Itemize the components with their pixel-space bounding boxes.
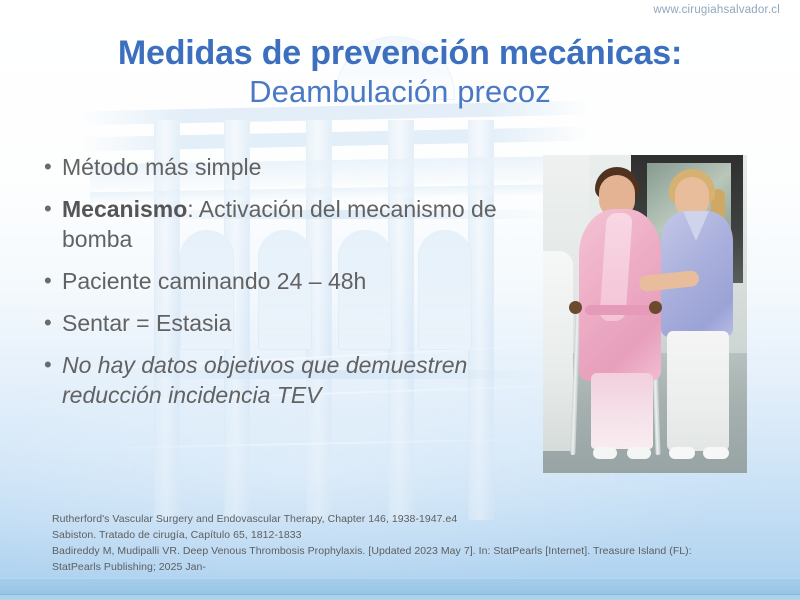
photo-patient-shoe bbox=[593, 447, 617, 459]
list-item: • No hay datos objetivos que demuestren … bbox=[44, 350, 514, 410]
page-title-line1: Medidas de prevención mecánicas: bbox=[0, 36, 800, 71]
list-item: • Sentar = Estasia bbox=[44, 308, 514, 338]
list-item-label: No hay datos objetivos que demuestren re… bbox=[62, 350, 514, 410]
photo-patient-belt bbox=[585, 305, 655, 315]
watermark-cornice-second bbox=[80, 127, 590, 152]
bullet-dot-icon: • bbox=[44, 194, 62, 224]
bullet-dot-icon: • bbox=[44, 350, 62, 380]
citation-line: Sabiston. Tratado de cirugía, Capítulo 6… bbox=[52, 527, 752, 543]
bullet-list: • Método más simple • Mecanismo: Activac… bbox=[44, 152, 514, 422]
photo-bystander bbox=[543, 251, 573, 451]
footer-bar-line bbox=[0, 594, 800, 595]
list-item-bold-prefix: Mecanismo bbox=[62, 196, 187, 222]
photo-nurse-pants bbox=[667, 331, 729, 451]
photo-crutch-grip bbox=[569, 301, 582, 314]
page-title: Medidas de prevención mecánicas: Deambul… bbox=[0, 36, 800, 109]
page-title-line2: Deambulación precoz bbox=[0, 76, 800, 108]
citation-line: Rutherford's Vascular Surgery and Endova… bbox=[52, 511, 752, 527]
footer-bar bbox=[0, 578, 800, 600]
list-item: • Mecanismo: Activación del mecanismo de… bbox=[44, 194, 514, 254]
bullet-dot-icon: • bbox=[44, 308, 62, 338]
citation-block: Rutherford's Vascular Surgery and Endova… bbox=[52, 511, 752, 575]
photo-patient-shoe bbox=[627, 447, 651, 459]
patient-ambulation-photo bbox=[543, 155, 747, 473]
photo-crutch-grip bbox=[649, 301, 662, 314]
list-item-label: Mecanismo: Activación del mecanismo de b… bbox=[62, 194, 514, 254]
site-url-label: www.cirugiahsalvador.cl bbox=[653, 4, 780, 16]
list-item-label: Sentar = Estasia bbox=[62, 308, 514, 338]
list-item: • Método más simple bbox=[44, 152, 514, 182]
photo-patient-pants bbox=[591, 373, 653, 449]
list-item-label: Paciente caminando 24 – 48h bbox=[62, 266, 514, 296]
bullet-dot-icon: • bbox=[44, 152, 62, 182]
bullet-dot-icon: • bbox=[44, 266, 62, 296]
photo-nurse-shoe bbox=[703, 447, 729, 459]
list-item: • Paciente caminando 24 – 48h bbox=[44, 266, 514, 296]
list-item-label: Método más simple bbox=[62, 152, 514, 182]
citation-line: StatPearls Publishing; 2025 Jan- bbox=[52, 559, 752, 575]
slide-canvas: www.cirugiahsalvador.cl Medidas de preve… bbox=[0, 0, 800, 600]
citation-line: Badireddy M, Mudipalli VR. Deep Venous T… bbox=[52, 543, 752, 559]
watermark-streak bbox=[60, 438, 560, 450]
photo-nurse-shoe bbox=[669, 447, 695, 459]
